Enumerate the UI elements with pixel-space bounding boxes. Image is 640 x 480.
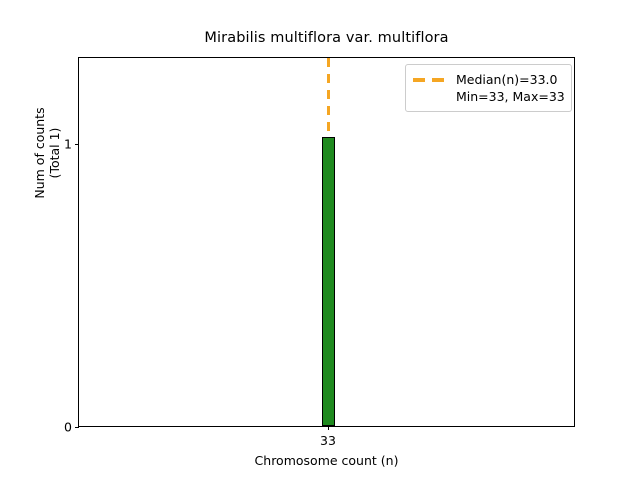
- y-axis-label: Num of counts (Total 1): [32, 0, 62, 338]
- dashed-line-icon: [413, 78, 447, 82]
- blank-swatch-icon: [413, 95, 447, 99]
- legend-label-minmax: Min=33, Max=33: [456, 89, 565, 104]
- y-axis-label-line1: Num of counts: [32, 0, 47, 338]
- histogram-bar[interactable]: [322, 137, 335, 426]
- legend-entry-median: Median(n)=33.0: [413, 71, 563, 88]
- ytick-mark-1: [75, 144, 79, 145]
- legend-entry-minmax: Min=33, Max=33: [413, 88, 563, 105]
- plot-axes: 0 1 33 Median(n)=33.0 Min=33, Max=33: [78, 57, 575, 427]
- chart-figure: Mirabilis multiflora var. multiflora 0 1…: [0, 0, 640, 480]
- ytick-label-1: 1: [64, 137, 72, 152]
- chart-title: Mirabilis multiflora var. multiflora: [78, 30, 575, 46]
- y-axis-label-line2: (Total 1): [47, 0, 62, 338]
- plot-area: [79, 58, 574, 426]
- chart-legend[interactable]: Median(n)=33.0 Min=33, Max=33: [405, 64, 572, 112]
- xtick-label-33: 33: [320, 433, 336, 448]
- x-axis-label: Chromosome count (n): [78, 453, 575, 468]
- xtick-mark-33: [328, 426, 329, 430]
- legend-label-median: Median(n)=33.0: [456, 72, 557, 87]
- ytick-mark-0: [75, 427, 79, 428]
- ytick-label-0: 0: [64, 420, 72, 435]
